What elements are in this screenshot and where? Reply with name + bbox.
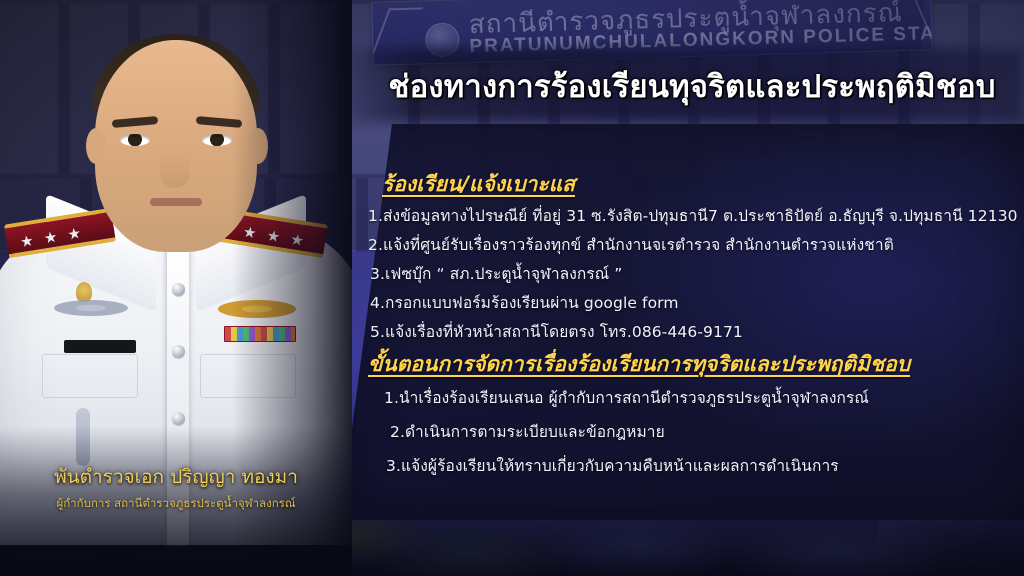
complaint-channel-list: 1.ส่งข้อมูลทางไปรษณีย์ ที่อยู่ 31 ซ.รังส… [368,204,1024,349]
officer-caption: พันตำรวจเอก ปริญญา ทองมา ผู้กำกับการ สถา… [0,462,352,513]
uniform-medal-icon [76,282,92,302]
officer-eye-right [202,134,232,146]
officer-name: พันตำรวจเอก ปริญญา ทองมา [0,462,352,492]
content-area: ร้องเรียน/แจ้งเบาะแส 1.ส่งข้อมูลทางไปรษณ… [368,132,1024,520]
rank-star-icon: ★ [42,229,60,247]
handling-steps-list: 1.นำเรื่องร้องเรียนเสนอ ผู้กำกับการสถานี… [368,386,1024,488]
officer-role: ผู้กำกับการ สถานีตำรวจภูธรประตูน้ำจุฬาลง… [0,495,352,513]
section-heading-complaint-channels: ร้องเรียน/แจ้งเบาะแส [382,168,575,201]
list-item: 1.ส่งข้อมูลทางไปรษณีย์ ที่อยู่ 31 ซ.รังส… [368,204,1024,229]
list-item: 4.กรอกแบบฟอร์มร้องเรียนผ่าน google form [368,291,1024,316]
officer-ear-left [86,128,106,164]
uniform-button [172,412,185,425]
officer-mouth [150,198,202,206]
officer-eye-left [120,134,150,146]
uniform-button [172,283,185,296]
list-item: 5.แจ้งเรื่องที่หัวหน้าสถานีโดยตรง โทร.08… [368,320,1024,345]
section-heading-handling-steps: ขั้นตอนการจัดการเรื่องร้องเรียนการทุจริต… [368,348,910,381]
rank-star-icon: ★ [65,226,83,244]
poster-canvas: สถานีตำรวจภูธรประตูน้ำจุฬาลงกรณ์ PRATUNU… [0,0,1024,576]
list-item: 3.แจ้งผู้ร้องเรียนให้ทราบเกี่ยวกับความคื… [368,454,1024,479]
uniform-wings-badge-left-icon [54,300,128,316]
list-item: 2.ดำเนินการตามระเบียบและข้อกฎหมาย [368,420,1024,445]
uniform-name-tag [64,340,136,353]
uniform-button [172,345,185,358]
page-title: ช่องทางการร้องเรียนทุจริตและประพฤติมิชอบ [360,60,1024,112]
list-item: 1.นำเรื่องร้องเรียนเสนอ ผู้กำกับการสถานี… [368,386,1024,411]
list-item: 2.แจ้งที่ศูนย์รับเรื่องราวร้องทุกข์ สำนั… [368,233,1024,258]
uniform-pocket-left [42,354,138,398]
rank-star-icon: ★ [18,233,36,251]
list-item: 3.เฟซบุ๊ก “ สภ.ประตูน้ำจุฬาลงกรณ์ ” [368,262,1024,287]
officer-nose [160,150,190,188]
